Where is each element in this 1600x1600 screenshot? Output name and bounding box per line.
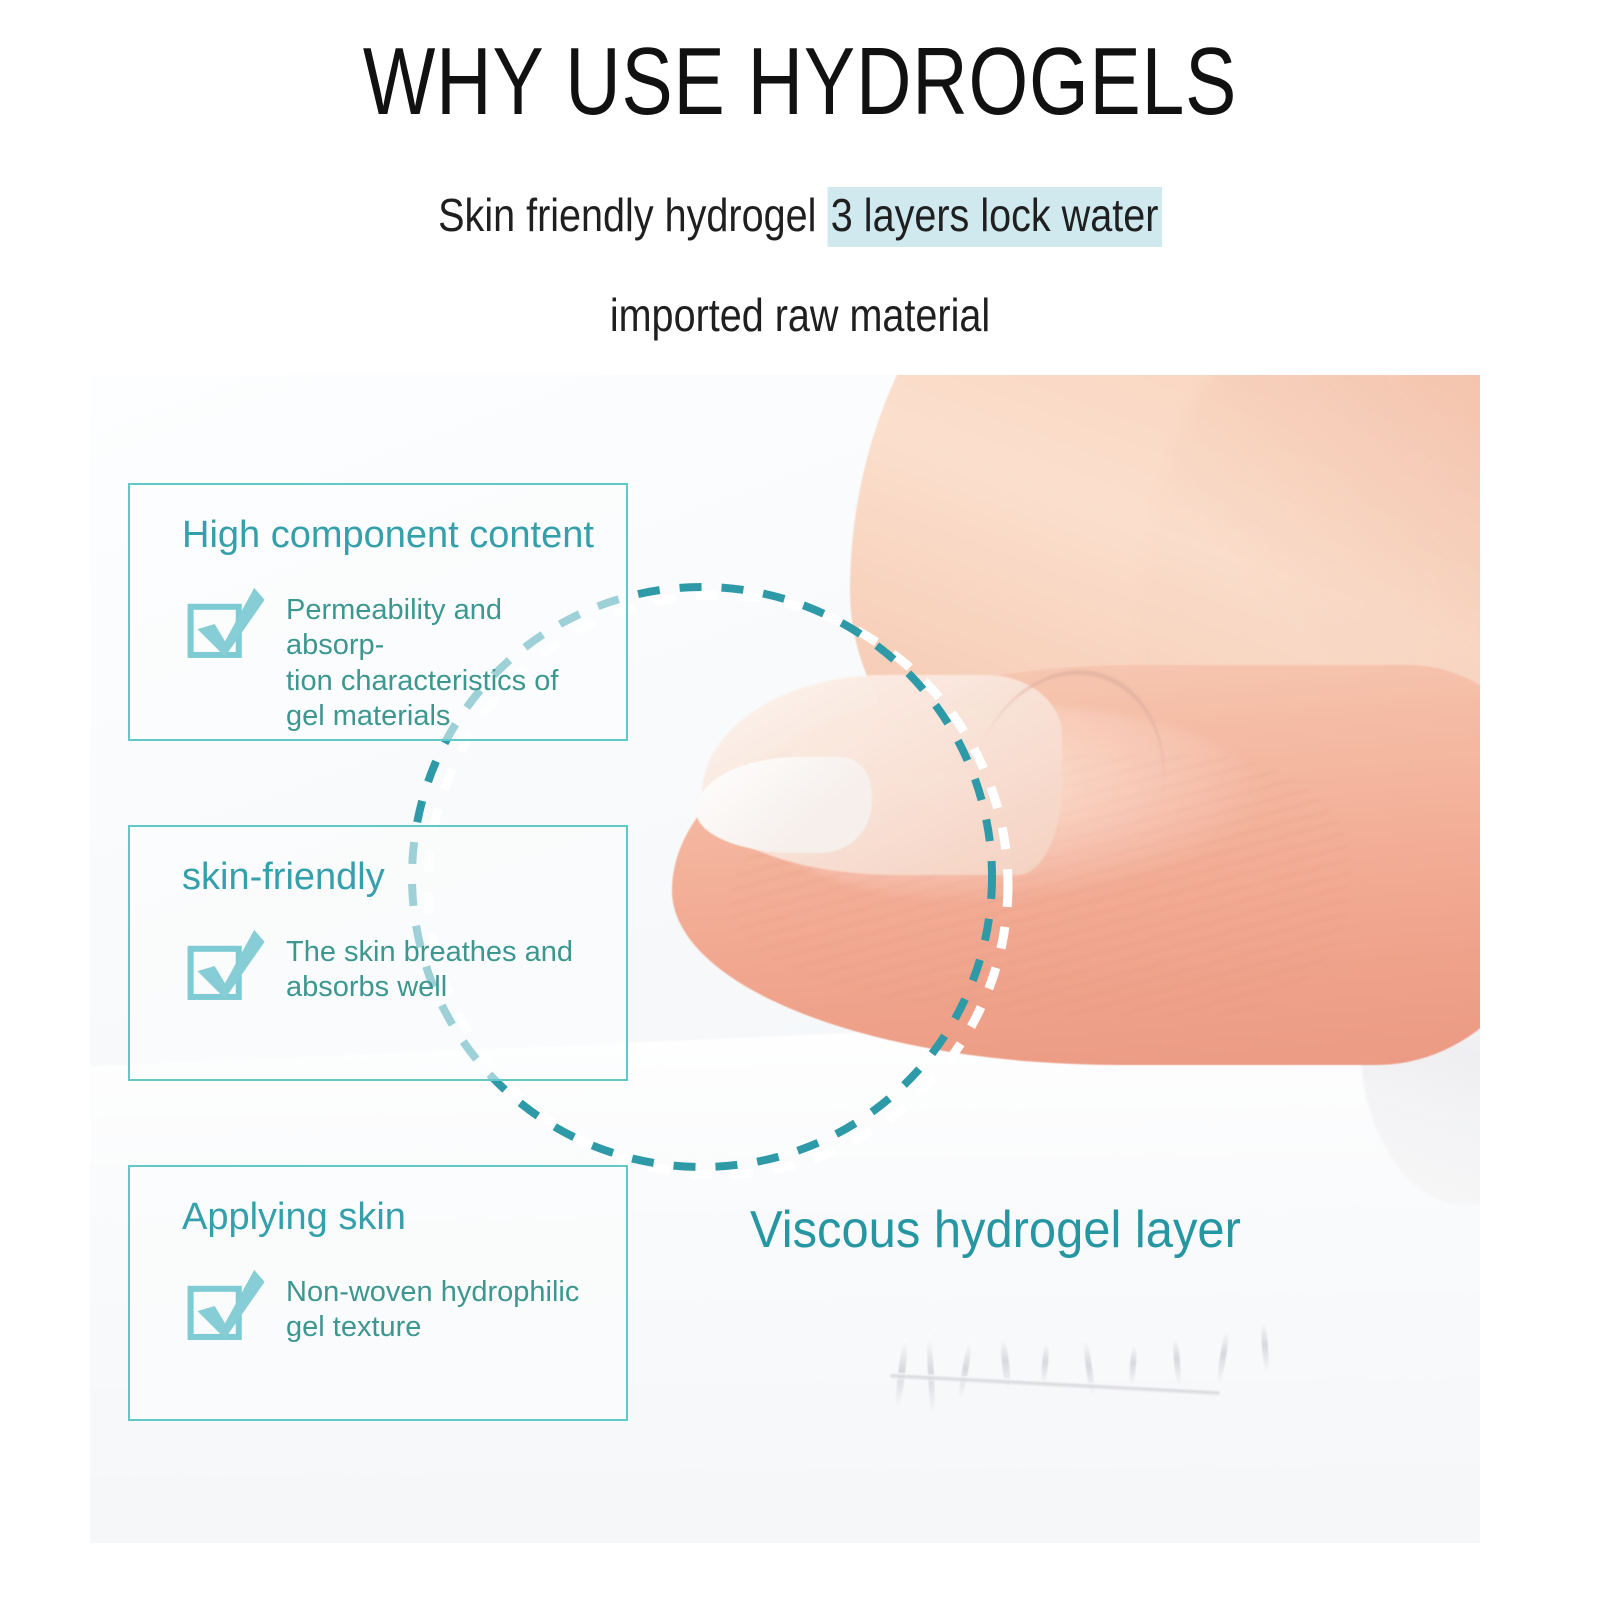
subtitle-line-1: Skin friendly hydrogel 3 layers lock wat… bbox=[112, 192, 1488, 238]
photo-caption: Viscous hydrogel layer bbox=[750, 1200, 1241, 1260]
feature-card-title: Applying skin bbox=[182, 1197, 600, 1239]
feature-card-text: Permeability and absorp- tion characteri… bbox=[286, 579, 600, 735]
checkbox-check-icon bbox=[182, 923, 268, 1009]
feature-card-body: Non-woven hydrophilic gel texture bbox=[182, 1261, 600, 1349]
feature-card-body: The skin breathes and absorbs well bbox=[182, 921, 600, 1009]
feature-card-list: High component content Permeability and … bbox=[128, 483, 668, 1421]
subtitle-highlighted-text: 3 layers lock water bbox=[827, 187, 1161, 247]
feature-card-body: Permeability and absorp- tion characteri… bbox=[182, 579, 600, 735]
checkbox-check-icon bbox=[182, 581, 268, 667]
feature-card-high-component-content[interactable]: High component content Permeability and … bbox=[128, 483, 628, 741]
header: WHY USE HYDROGELS Skin friendly hydrogel… bbox=[0, 0, 1600, 338]
feature-card-title: High component content bbox=[182, 515, 600, 557]
checkbox-check-icon bbox=[182, 1263, 268, 1349]
feature-card-text: Non-woven hydrophilic gel texture bbox=[286, 1261, 579, 1346]
infographic-page: WHY USE HYDROGELS Skin friendly hydrogel… bbox=[0, 0, 1600, 1600]
page-title: WHY USE HYDROGELS bbox=[160, 34, 1440, 130]
content-panel: Viscous hydrogel layer High component co… bbox=[90, 375, 1480, 1543]
subtitle-plain-text: Skin friendly hydrogel bbox=[438, 189, 827, 241]
feature-card-title: skin-friendly bbox=[182, 857, 600, 899]
feature-card-text: The skin breathes and absorbs well bbox=[286, 921, 573, 1006]
subtitle-line-2: imported raw material bbox=[112, 292, 1488, 338]
feature-card-skin-friendly[interactable]: skin-friendly The skin breathes and abso… bbox=[128, 825, 628, 1081]
feature-card-applying-skin[interactable]: Applying skin Non-woven hydrophilic gel … bbox=[128, 1165, 628, 1421]
